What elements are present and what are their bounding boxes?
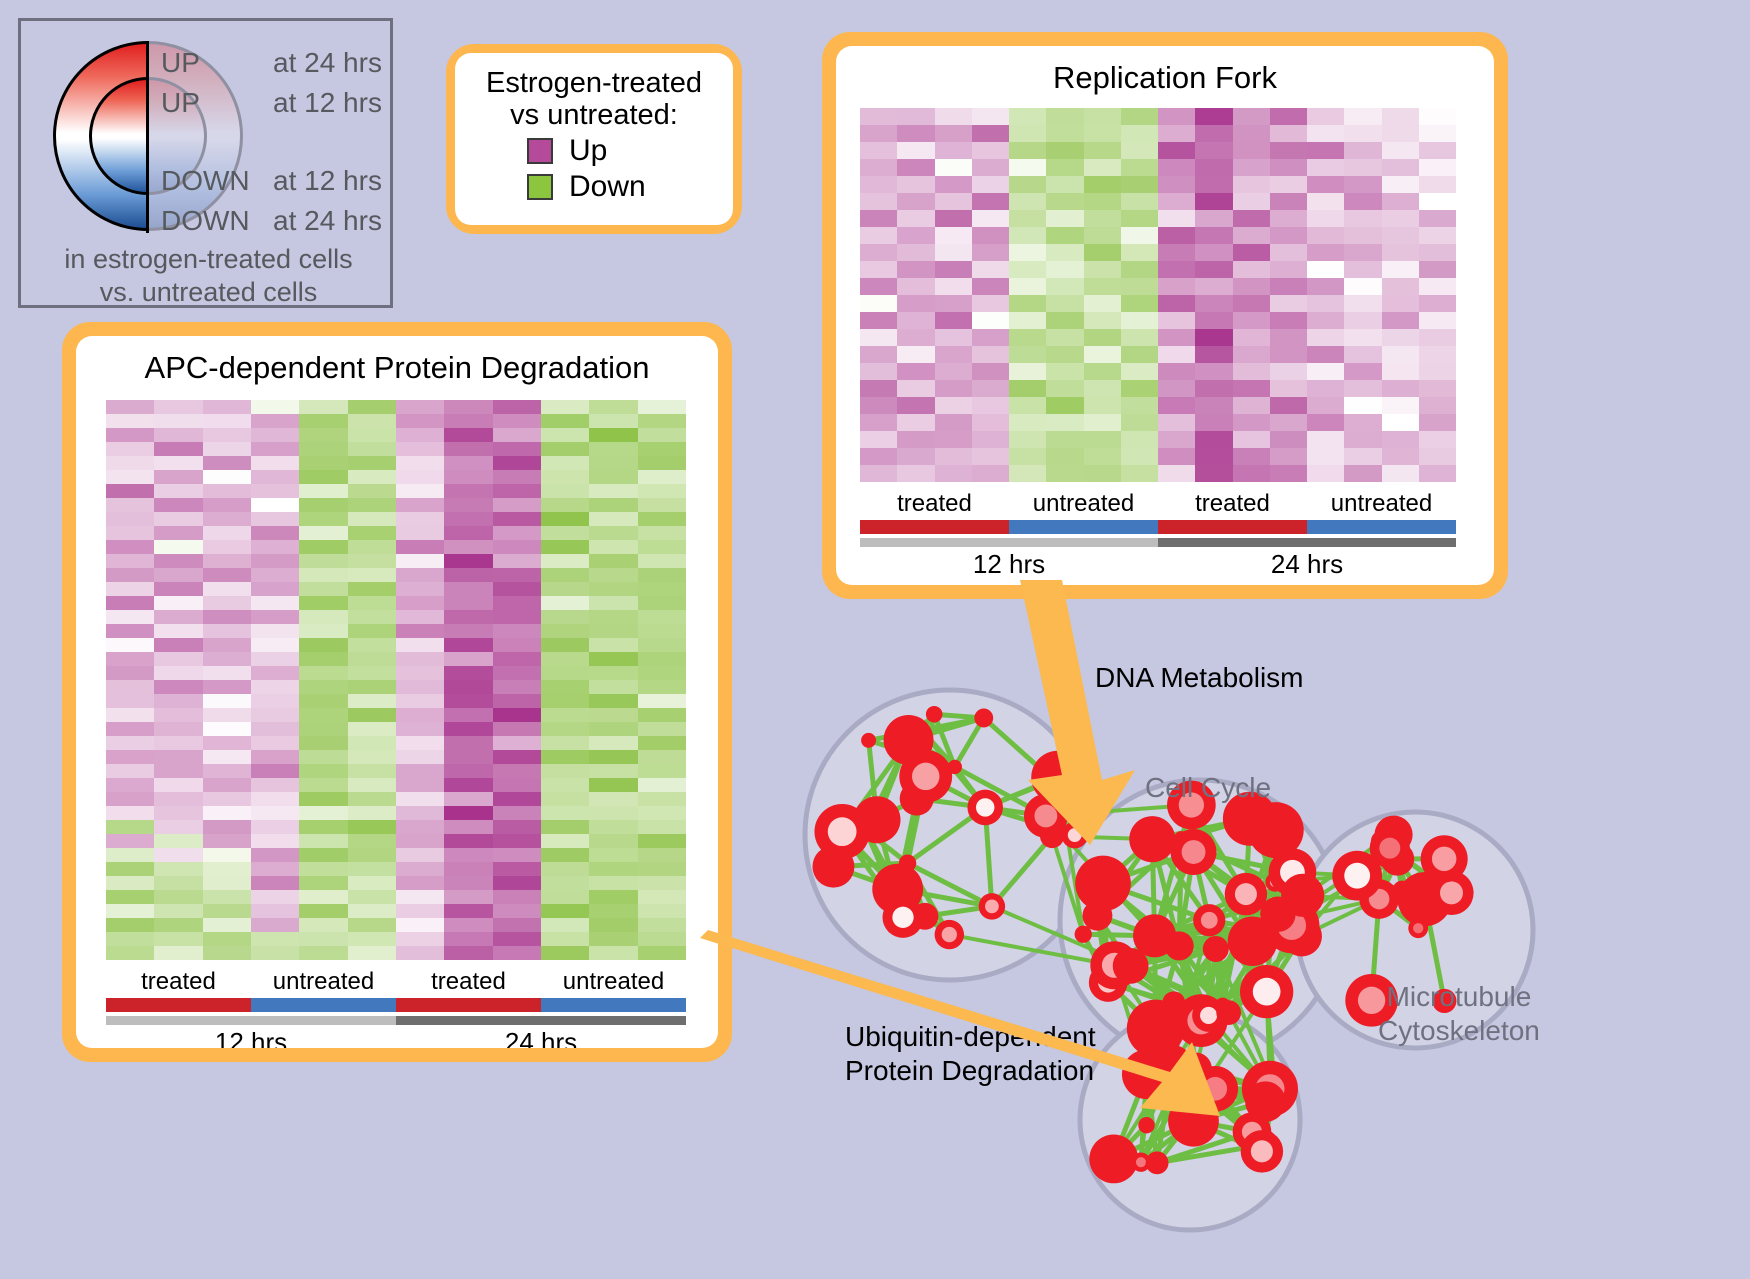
heatmap-cell bbox=[1121, 397, 1158, 414]
heatmap-cell bbox=[589, 680, 637, 694]
heatmap-cell bbox=[1307, 244, 1344, 261]
network-node[interactable] bbox=[861, 733, 876, 748]
heatmap-cell bbox=[638, 680, 686, 694]
heatmap-cell bbox=[589, 526, 637, 540]
heatmap-cell bbox=[589, 750, 637, 764]
heatmap-cell bbox=[444, 750, 492, 764]
heatmap-cell bbox=[444, 918, 492, 932]
heatmap-cell bbox=[935, 142, 972, 159]
heatmap-cell bbox=[1270, 397, 1307, 414]
heatmap-cell bbox=[106, 792, 154, 806]
heatmap-cell bbox=[1121, 244, 1158, 261]
heatmap-cell bbox=[1270, 244, 1307, 261]
heatmap-cell bbox=[638, 708, 686, 722]
heatmap-cell bbox=[444, 442, 492, 456]
heatmap-cell bbox=[348, 540, 396, 554]
heatmap-cell bbox=[1307, 125, 1344, 142]
updown-legend-title: Estrogen-treated vs untreated: bbox=[455, 67, 733, 132]
heatmap-cell bbox=[396, 904, 444, 918]
heatmap-cell bbox=[541, 876, 589, 890]
heatmap-cell bbox=[541, 442, 589, 456]
heatmap-cell bbox=[541, 918, 589, 932]
heatmap-cell bbox=[444, 876, 492, 890]
heatmap-cell bbox=[1084, 227, 1121, 244]
apc-time-labels: 12 hrs 24 hrs bbox=[106, 1027, 686, 1048]
heatmap-cell bbox=[860, 397, 897, 414]
heatmap-cell bbox=[1233, 363, 1270, 380]
heatmap-cell bbox=[444, 834, 492, 848]
heatmap-cell bbox=[860, 193, 897, 210]
heatmap-cell bbox=[1344, 227, 1381, 244]
heatmap-cell bbox=[1084, 108, 1121, 125]
heatmap-cell bbox=[348, 848, 396, 862]
heatmap-cell bbox=[1382, 363, 1419, 380]
network-node-core bbox=[912, 763, 939, 790]
heatmap-cell bbox=[860, 312, 897, 329]
heatmap-cell bbox=[251, 792, 299, 806]
heatmap-cell bbox=[860, 346, 897, 363]
heatmap-cell bbox=[203, 652, 251, 666]
group-label-treated-24: treated bbox=[1158, 490, 1307, 518]
heatmap-cell bbox=[1382, 244, 1419, 261]
heatmap-cell bbox=[299, 792, 347, 806]
heatmap-cell bbox=[106, 526, 154, 540]
heatmap-cell bbox=[589, 736, 637, 750]
heatmap-cell bbox=[860, 448, 897, 465]
heatmap-cell bbox=[299, 890, 347, 904]
network-node[interactable] bbox=[1089, 1135, 1138, 1184]
heatmap-cell bbox=[1121, 176, 1158, 193]
heatmap-cell bbox=[1344, 448, 1381, 465]
heatmap-cell bbox=[106, 484, 154, 498]
heatmap-cell bbox=[106, 680, 154, 694]
heatmap-cell bbox=[106, 582, 154, 596]
heatmap-cell bbox=[935, 193, 972, 210]
network-node-core bbox=[1413, 923, 1423, 933]
heatmap-cell bbox=[972, 397, 1009, 414]
heatmap-cell bbox=[638, 834, 686, 848]
heatmap-cell bbox=[251, 414, 299, 428]
heatmap-cell bbox=[396, 442, 444, 456]
heatmap-cell bbox=[1046, 448, 1083, 465]
heatmap-cell bbox=[1233, 431, 1270, 448]
heatmap-cell bbox=[1046, 176, 1083, 193]
heatmap-cell bbox=[1233, 261, 1270, 278]
heatmap-cell bbox=[154, 596, 202, 610]
heatmap-cell bbox=[1419, 397, 1456, 414]
heatmap-cell bbox=[154, 512, 202, 526]
network-node[interactable] bbox=[1082, 901, 1112, 931]
group-label-untreated-24: untreated bbox=[1307, 490, 1456, 518]
heatmap-cell bbox=[203, 722, 251, 736]
heatmap-cell bbox=[1233, 465, 1270, 482]
heatmap-cell bbox=[396, 778, 444, 792]
heatmap-cell bbox=[1344, 244, 1381, 261]
heatmap-cell bbox=[860, 176, 897, 193]
heatmap-cell bbox=[251, 918, 299, 932]
group-label-treated-12: treated bbox=[860, 490, 1009, 518]
heatmap-cell bbox=[1195, 397, 1232, 414]
heatmap-cell bbox=[1195, 227, 1232, 244]
heatmap-cell bbox=[251, 764, 299, 778]
heatmap-cell bbox=[1084, 193, 1121, 210]
heatmap-cell bbox=[589, 624, 637, 638]
heatmap-cell bbox=[1121, 380, 1158, 397]
heatmap-cell bbox=[106, 554, 154, 568]
heatmap-cell bbox=[897, 142, 934, 159]
network-node-core bbox=[1136, 1157, 1146, 1167]
heatmap-cell bbox=[348, 470, 396, 484]
heatmap-cell bbox=[1158, 380, 1195, 397]
heatmap-cell bbox=[897, 414, 934, 431]
heatmap-cell bbox=[1307, 414, 1344, 431]
heatmap-cell bbox=[493, 904, 541, 918]
heatmap-cell bbox=[1121, 125, 1158, 142]
heatmap-cell bbox=[444, 932, 492, 946]
network-node-core bbox=[1379, 838, 1400, 859]
heatmap-cell bbox=[638, 624, 686, 638]
heatmap-cell bbox=[589, 498, 637, 512]
heatmap-cell bbox=[1121, 465, 1158, 482]
heatmap-cell bbox=[396, 806, 444, 820]
heatmap-cell bbox=[972, 244, 1009, 261]
heatmap-cell bbox=[154, 470, 202, 484]
heatmap-cell bbox=[1270, 108, 1307, 125]
heatmap-cell bbox=[1084, 346, 1121, 363]
heatmap-cell bbox=[1084, 261, 1121, 278]
heatmap-cell bbox=[493, 862, 541, 876]
heatmap-cell bbox=[493, 456, 541, 470]
heatmap-cell bbox=[972, 142, 1009, 159]
heatmap-cell bbox=[203, 848, 251, 862]
heatmap-cell bbox=[203, 540, 251, 554]
heatmap-cell bbox=[154, 820, 202, 834]
network-node[interactable] bbox=[899, 854, 916, 871]
updown-legend-item-up: Up bbox=[527, 134, 733, 168]
heatmap-cell bbox=[935, 431, 972, 448]
heatmap-cell bbox=[638, 456, 686, 470]
heatmap-cell bbox=[348, 568, 396, 582]
heatmap-cell bbox=[203, 400, 251, 414]
heatmap-cell bbox=[1233, 380, 1270, 397]
heatmap-cell bbox=[251, 876, 299, 890]
heatmap-cell bbox=[444, 414, 492, 428]
heatmap-cell bbox=[541, 610, 589, 624]
heatmap-cell bbox=[493, 708, 541, 722]
heatmap-cell bbox=[638, 890, 686, 904]
heatmap-cell bbox=[897, 210, 934, 227]
heatmap-cell bbox=[1195, 380, 1232, 397]
heatmap-cell bbox=[106, 806, 154, 820]
heatmap-cell bbox=[251, 540, 299, 554]
heatmap-cell bbox=[1233, 227, 1270, 244]
heatmap-cell bbox=[1344, 261, 1381, 278]
heatmap-cell bbox=[972, 193, 1009, 210]
heatmap-cell bbox=[1382, 312, 1419, 329]
arrow-replication-fork-to-network bbox=[950, 580, 1150, 850]
heatmap-cell bbox=[106, 834, 154, 848]
heatmap-cell bbox=[1344, 363, 1381, 380]
heatmap-cell bbox=[493, 680, 541, 694]
heatmap-cell bbox=[154, 722, 202, 736]
apc-group-label-treated-24: treated bbox=[396, 968, 541, 996]
heatmap-cell bbox=[493, 624, 541, 638]
heatmap-cell bbox=[1344, 465, 1381, 482]
heatmap-cell bbox=[1046, 346, 1083, 363]
heatmap-cell bbox=[1084, 380, 1121, 397]
heatmap-cell bbox=[1195, 159, 1232, 176]
heatmap-cell bbox=[348, 596, 396, 610]
bar-untreated-12 bbox=[251, 998, 396, 1012]
heatmap-cell bbox=[444, 708, 492, 722]
heatmap-cell bbox=[396, 428, 444, 442]
heatmap-cell bbox=[251, 806, 299, 820]
heatmap-cell bbox=[348, 792, 396, 806]
apc-group-labels: treated untreated treated untreated bbox=[106, 968, 686, 996]
colorwheel-key-down-24: DOWN bbox=[161, 205, 273, 237]
heatmap-cell bbox=[251, 694, 299, 708]
heatmap-cell bbox=[493, 554, 541, 568]
heatmap-cell bbox=[1419, 295, 1456, 312]
heatmap-cell bbox=[1233, 108, 1270, 125]
heatmap-cell bbox=[638, 806, 686, 820]
heatmap-cell bbox=[1382, 278, 1419, 295]
heatmap-cell bbox=[348, 722, 396, 736]
heatmap-cell bbox=[541, 400, 589, 414]
network-node[interactable] bbox=[1146, 1151, 1169, 1174]
colorwheel-divider bbox=[146, 41, 149, 233]
heatmap-cell bbox=[589, 400, 637, 414]
apc-degradation-heatmap bbox=[106, 400, 686, 960]
heatmap-cell bbox=[348, 834, 396, 848]
heatmap-cell bbox=[299, 624, 347, 638]
heatmap-cell bbox=[299, 680, 347, 694]
heatmap-cell bbox=[897, 312, 934, 329]
heatmap-cell bbox=[299, 722, 347, 736]
heatmap-cell bbox=[1009, 363, 1046, 380]
heatmap-cell bbox=[541, 526, 589, 540]
heatmap-cell bbox=[444, 848, 492, 862]
heatmap-cell bbox=[493, 876, 541, 890]
replication-fork-inner: Replication Fork treated untreated treat… bbox=[836, 46, 1494, 585]
heatmap-cell bbox=[541, 792, 589, 806]
heatmap-cell bbox=[972, 125, 1009, 142]
heatmap-cell bbox=[860, 278, 897, 295]
heatmap-cell bbox=[154, 708, 202, 722]
heatmap-cell bbox=[1195, 346, 1232, 363]
heatmap-cell bbox=[1233, 448, 1270, 465]
heatmap-cell bbox=[589, 582, 637, 596]
heatmap-cell bbox=[396, 568, 444, 582]
heatmap-cell bbox=[154, 442, 202, 456]
heatmap-cell bbox=[1046, 414, 1083, 431]
heatmap-cell bbox=[1344, 414, 1381, 431]
network-node[interactable] bbox=[926, 706, 943, 723]
heatmap-cell bbox=[1046, 465, 1083, 482]
heatmap-cell bbox=[203, 596, 251, 610]
heatmap-cell bbox=[541, 932, 589, 946]
heatmap-cell bbox=[1195, 329, 1232, 346]
heatmap-cell bbox=[1307, 312, 1344, 329]
heatmap-cell bbox=[299, 834, 347, 848]
heatmap-cell bbox=[251, 400, 299, 414]
heatmap-cell bbox=[1382, 261, 1419, 278]
updown-legend-panel: Estrogen-treated vs untreated: Up Down bbox=[446, 44, 742, 234]
heatmap-cell bbox=[1009, 431, 1046, 448]
heatmap-cell bbox=[154, 890, 202, 904]
heatmap-cell bbox=[154, 428, 202, 442]
heatmap-cell bbox=[1344, 210, 1381, 227]
network-node-core bbox=[892, 907, 913, 928]
heatmap-cell bbox=[638, 512, 686, 526]
heatmap-cell bbox=[541, 750, 589, 764]
heatmap-cell bbox=[589, 540, 637, 554]
heatmap-cell bbox=[106, 568, 154, 582]
heatmap-cell bbox=[1084, 329, 1121, 346]
heatmap-cell bbox=[154, 876, 202, 890]
heatmap-cell bbox=[493, 736, 541, 750]
heatmap-cell bbox=[348, 414, 396, 428]
colorwheel-caption: in estrogen-treated cells vs. untreated … bbox=[21, 243, 396, 309]
heatmap-cell bbox=[897, 363, 934, 380]
heatmap-cell bbox=[493, 638, 541, 652]
heatmap-cell bbox=[396, 652, 444, 666]
heatmap-cell bbox=[203, 904, 251, 918]
heatmap-cell bbox=[493, 470, 541, 484]
heatmap-cell bbox=[935, 380, 972, 397]
heatmap-cell bbox=[1121, 261, 1158, 278]
heatmap-cell bbox=[493, 834, 541, 848]
heatmap-cell bbox=[348, 582, 396, 596]
heatmap-cell bbox=[396, 414, 444, 428]
heatmap-cell bbox=[972, 176, 1009, 193]
network-node-core bbox=[1182, 840, 1206, 864]
heatmap-cell bbox=[935, 176, 972, 193]
heatmap-cell bbox=[897, 380, 934, 397]
heatmap-cell bbox=[1270, 295, 1307, 312]
heatmap-cell bbox=[251, 582, 299, 596]
heatmap-cell bbox=[444, 498, 492, 512]
heatmap-cell bbox=[972, 346, 1009, 363]
heatmap-cell bbox=[154, 638, 202, 652]
heatmap-cell bbox=[396, 820, 444, 834]
apc-group-label-untreated-12: untreated bbox=[251, 968, 396, 996]
heatmap-cell bbox=[589, 778, 637, 792]
heatmap-cell bbox=[1084, 431, 1121, 448]
heatmap-cell bbox=[154, 946, 202, 960]
heatmap-cell bbox=[972, 465, 1009, 482]
colorwheel-row-down-12: DOWN at 12 hrs bbox=[161, 161, 391, 201]
heatmap-cell bbox=[106, 848, 154, 862]
heatmap-cell bbox=[935, 312, 972, 329]
heatmap-cell bbox=[106, 652, 154, 666]
heatmap-cell bbox=[348, 526, 396, 540]
heatmap-cell bbox=[1233, 278, 1270, 295]
heatmap-cell bbox=[396, 890, 444, 904]
heatmap-cell bbox=[1084, 414, 1121, 431]
heatmap-cell bbox=[444, 736, 492, 750]
heatmap-cell bbox=[589, 596, 637, 610]
heatmap-cell bbox=[1419, 363, 1456, 380]
heatmap-cell bbox=[1046, 312, 1083, 329]
heatmap-cell bbox=[444, 666, 492, 680]
heatmap-cell bbox=[1307, 448, 1344, 465]
down-color-swatch bbox=[527, 174, 553, 200]
heatmap-cell bbox=[1344, 176, 1381, 193]
heatmap-cell bbox=[444, 806, 492, 820]
heatmap-cell bbox=[1195, 278, 1232, 295]
heatmap-cell bbox=[348, 946, 396, 960]
heatmap-cell bbox=[541, 890, 589, 904]
heatmap-cell bbox=[1158, 108, 1195, 125]
apc-degradation-title: APC-dependent Protein Degradation bbox=[76, 350, 718, 386]
heatmap-cell bbox=[1344, 346, 1381, 363]
heatmap-cell bbox=[348, 694, 396, 708]
heatmap-cell bbox=[1121, 227, 1158, 244]
heatmap-cell bbox=[638, 792, 686, 806]
heatmap-cell bbox=[972, 312, 1009, 329]
heatmap-cell bbox=[1270, 380, 1307, 397]
updown-legend-inner: Estrogen-treated vs untreated: Up Down bbox=[455, 53, 733, 225]
heatmap-cell bbox=[1158, 346, 1195, 363]
heatmap-cell bbox=[972, 363, 1009, 380]
heatmap-cell bbox=[203, 750, 251, 764]
heatmap-cell bbox=[1307, 261, 1344, 278]
heatmap-cell bbox=[1307, 176, 1344, 193]
heatmap-cell bbox=[1046, 329, 1083, 346]
heatmap-cell bbox=[541, 708, 589, 722]
heatmap-cell bbox=[541, 554, 589, 568]
replication-fork-panel: Replication Fork treated untreated treat… bbox=[822, 32, 1508, 599]
heatmap-cell bbox=[203, 680, 251, 694]
heatmap-cell bbox=[1344, 329, 1381, 346]
heatmap-cell bbox=[897, 193, 934, 210]
bar-untreated-24 bbox=[1307, 520, 1456, 534]
heatmap-cell bbox=[154, 736, 202, 750]
heatmap-cell bbox=[1121, 346, 1158, 363]
heatmap-cell bbox=[541, 484, 589, 498]
heatmap-cell bbox=[154, 484, 202, 498]
apc-degradation-panel: APC-dependent Protein Degradation treate… bbox=[62, 322, 732, 1062]
heatmap-cell bbox=[860, 261, 897, 278]
heatmap-cell bbox=[860, 380, 897, 397]
heatmap-cell bbox=[203, 442, 251, 456]
heatmap-cell bbox=[1382, 125, 1419, 142]
heatmap-cell bbox=[444, 596, 492, 610]
heatmap-cell bbox=[106, 890, 154, 904]
heatmap-cell bbox=[1307, 108, 1344, 125]
heatmap-cell bbox=[493, 848, 541, 862]
heatmap-cell bbox=[203, 414, 251, 428]
heatmap-cell bbox=[1046, 431, 1083, 448]
heatmap-cell bbox=[444, 456, 492, 470]
network-node[interactable] bbox=[1260, 897, 1295, 932]
heatmap-cell bbox=[396, 792, 444, 806]
heatmap-cell bbox=[299, 946, 347, 960]
heatmap-cell bbox=[972, 108, 1009, 125]
heatmap-cell bbox=[589, 792, 637, 806]
heatmap-cell bbox=[154, 526, 202, 540]
heatmap-cell bbox=[1344, 397, 1381, 414]
heatmap-cell bbox=[897, 159, 934, 176]
heatmap-cell bbox=[638, 498, 686, 512]
heatmap-cell bbox=[299, 932, 347, 946]
heatmap-cell bbox=[154, 862, 202, 876]
heatmap-cell bbox=[154, 694, 202, 708]
heatmap-cell bbox=[541, 512, 589, 526]
heatmap-cell bbox=[1158, 295, 1195, 312]
heatmap-cell bbox=[1307, 380, 1344, 397]
